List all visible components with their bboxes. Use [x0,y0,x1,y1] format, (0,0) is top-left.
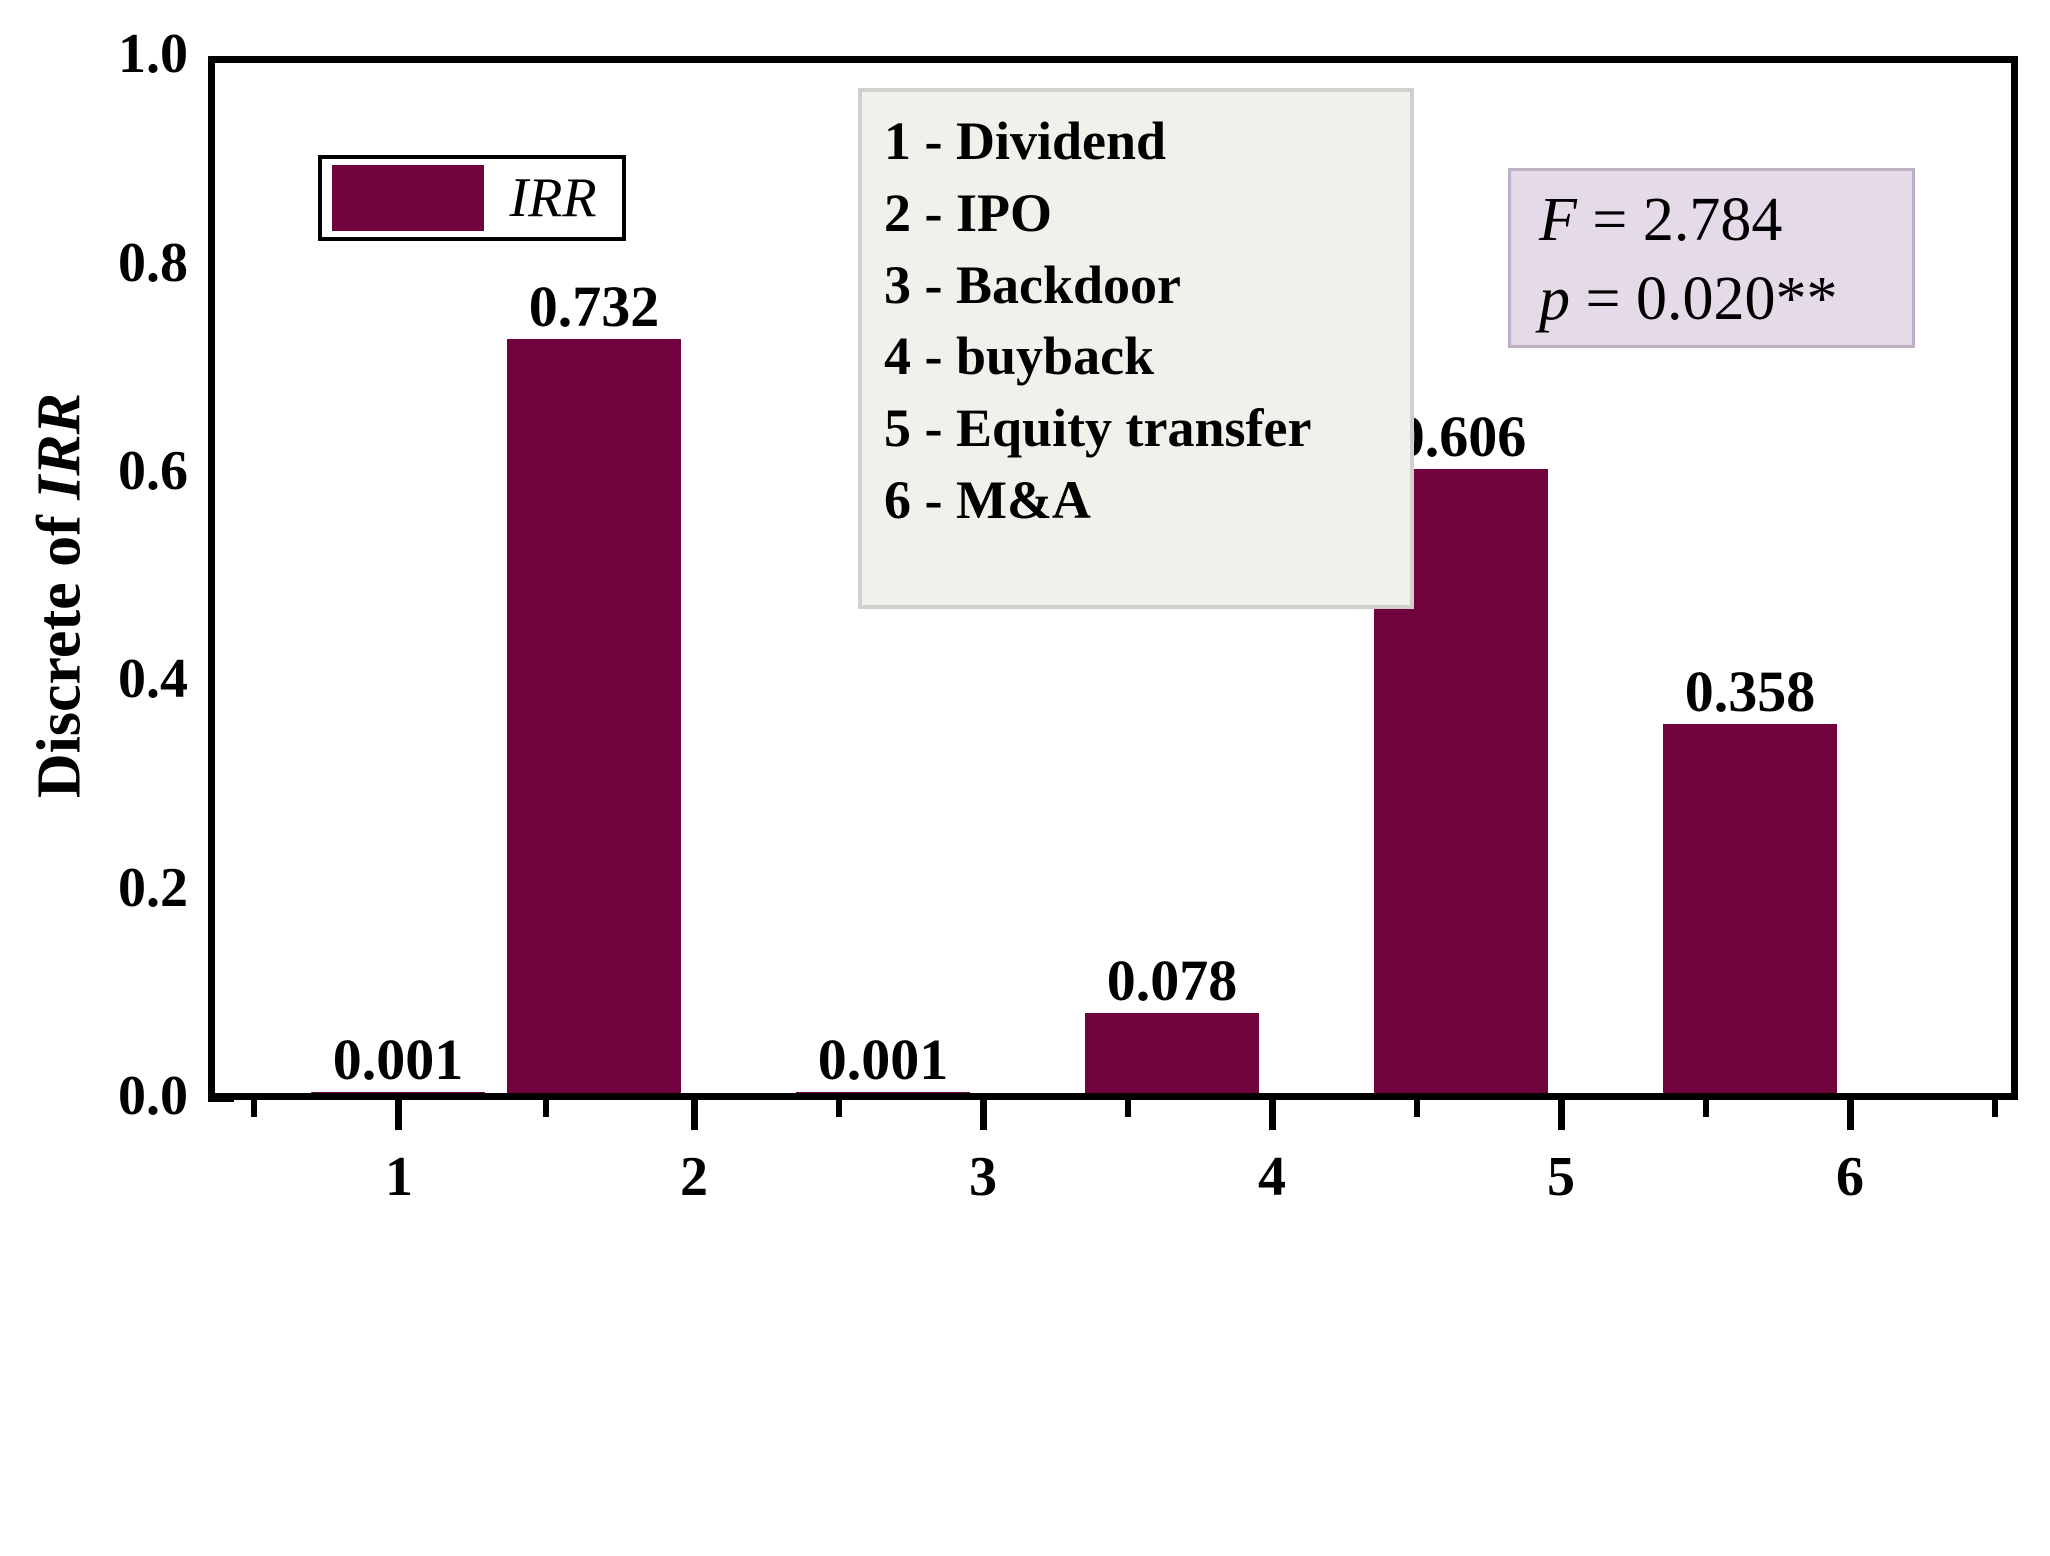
legend-label: IRR [484,170,622,226]
f-symbol: F [1539,186,1577,254]
bar-value-label: 0.606 [1396,403,1527,470]
x-tick-label-3: 3 [969,1145,997,1209]
legend[interactable]: IRR [318,155,626,241]
bar-4[interactable] [1085,1013,1259,1093]
category-key-item: 5 - Equity transfer [884,393,1410,465]
bar-value-label: 0.001 [818,1026,949,1093]
p-value: = 0.020** [1570,265,1837,333]
x-minor-tick [543,1100,549,1117]
x-tick-label-1: 1 [385,1145,413,1209]
x-tick-label-5: 5 [1547,1145,1575,1209]
legend-color-swatch [332,165,484,231]
x-major-tick [1269,1100,1276,1130]
category-key-box: 1 - Dividend 2 - IPO 3 - Backdoor 4 - bu… [858,88,1414,609]
x-major-tick [1558,1100,1565,1130]
y-tick-label: 0.0 [118,1068,188,1124]
x-minor-tick [251,1100,257,1117]
x-minor-tick [1414,1100,1420,1117]
bar-2[interactable] [507,339,681,1093]
x-major-tick [395,1100,402,1130]
category-key-item: 6 - M&A [884,465,1410,537]
y-tick-label: 1.0 [118,26,188,82]
stats-annotation-box: F = 2.784 p = 0.020** [1508,168,1915,348]
x-major-tick [691,1100,698,1130]
bar-value-label: 0.732 [529,273,660,340]
x-minor-tick [1992,1100,1998,1117]
x-major-tick [1847,1100,1854,1130]
chart-root: 1.0 0.8 0.6 0.4 0.2 0.0 Discrete of IRR … [0,0,2050,1556]
category-key-item: 1 - Dividend [884,106,1410,178]
y-tick-label: 0.8 [118,235,188,291]
x-tick-label-4: 4 [1258,1145,1286,1209]
f-statistic-row: F = 2.784 [1539,181,1912,260]
p-value-row: p = 0.020** [1539,260,1912,339]
x-minor-tick [1125,1100,1131,1117]
f-value: = 2.784 [1577,186,1782,254]
category-key-item: 2 - IPO [884,178,1410,250]
y-tick-label: 0.4 [118,651,188,707]
category-key-item: 4 - buyback [884,321,1410,393]
x-major-tick [980,1100,987,1130]
y-tick-label: 0.6 [118,443,188,499]
y-tick-label: 0.2 [118,860,188,916]
x-tick-label-6: 6 [1836,1145,1864,1209]
x-tick-label-2: 2 [680,1145,708,1209]
x-minor-tick [836,1100,842,1117]
bar-value-label: 0.078 [1107,947,1238,1014]
p-symbol: p [1539,265,1570,333]
x-minor-tick [1703,1100,1709,1117]
bar-value-label: 0.001 [333,1026,464,1093]
category-key-item: 3 - Backdoor [884,250,1410,322]
y-axis-tick-labels: 1.0 0.8 0.6 0.4 0.2 0.0 [0,0,188,1556]
bar-6[interactable] [1663,724,1837,1093]
bar-value-label: 0.358 [1685,658,1816,725]
